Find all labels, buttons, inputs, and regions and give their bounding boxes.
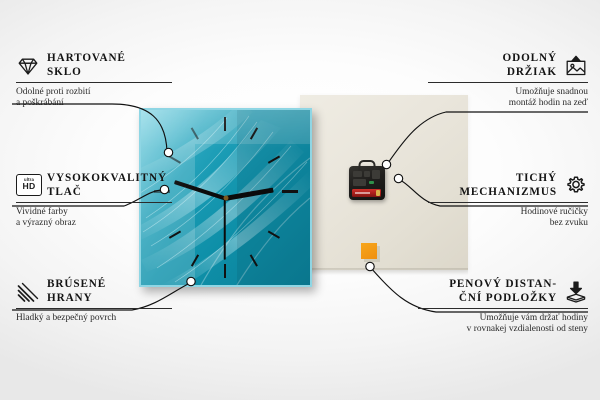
clock-second-hand: [224, 198, 226, 260]
clock-tick: [282, 190, 298, 193]
feature-title: HARTOVANÉ SKLO: [47, 52, 126, 79]
ultra-hd-badge-icon: ultra HD: [16, 174, 40, 198]
mechanism-detail: [353, 171, 362, 177]
diamond-icon: [16, 54, 40, 78]
arrow-into-pad-icon: [564, 280, 588, 304]
feature-description-line2: a poškrábání: [16, 98, 172, 109]
divider: [428, 202, 588, 203]
hd-badge-main-text: HD: [22, 182, 35, 191]
feature-title: VYSOKOKVALITNÝ TLAČ: [47, 172, 167, 199]
mechanism-detail: [372, 170, 380, 179]
feature-heading: ODOLNÝ DRŽIAK: [428, 52, 588, 79]
mechanism-battery: [352, 189, 381, 197]
feature-foam-spacers: PENOVÝ DISTAN- ČNÍ PODLOŽKY Umožňuje vám…: [418, 278, 588, 335]
feature-description-line2: v rovnakej vzdialenosti od steny: [418, 324, 588, 335]
feature-description-line2: a výrazný obraz: [16, 218, 172, 229]
feature-heading: HARTOVANÉ SKLO: [16, 52, 172, 79]
feature-description-line1: Umožňuje snadnou: [428, 87, 588, 98]
diagonal-lines-icon: [16, 280, 40, 304]
feature-description-line1: Hodinové ručičky: [428, 207, 588, 218]
divider: [418, 308, 588, 309]
feature-title: BRÚSENÉ HRANY: [47, 278, 106, 305]
feature-title: TICHÝ MECHANIZMUS: [459, 172, 557, 199]
feature-tempered-glass: HARTOVANÉ SKLO Odolné proti rozbití a po…: [16, 52, 172, 109]
clock-mechanism: [349, 166, 385, 200]
divider: [428, 82, 588, 83]
wall-panel-shadow: [300, 268, 468, 275]
feature-title: ODOLNÝ DRŽIAK: [502, 52, 557, 79]
gear-icon: [564, 174, 588, 198]
feature-description-line1: Odolné proti rozbití: [16, 87, 172, 98]
feature-high-quality-print: ultra HD VYSOKOKVALITNÝ TLAČ Vividné far…: [16, 172, 172, 229]
feature-heading: PENOVÝ DISTAN- ČNÍ PODLOŽKY: [418, 278, 588, 305]
clock-tick: [224, 117, 226, 131]
divider: [16, 202, 172, 203]
feature-heading: TICHÝ MECHANIZMUS: [428, 172, 588, 199]
feature-heading: BRÚSENÉ HRANY: [16, 278, 172, 305]
battery-positive-cap: [376, 190, 380, 196]
feature-description-line1: Umožňuje vám držať hodiny: [418, 313, 588, 324]
infographic-canvas: HARTOVANÉ SKLO Odolné proti rozbití a po…: [0, 0, 600, 400]
feature-silent-mechanism: TICHÝ MECHANIZMUS Hodinové ručičky bez z…: [428, 172, 588, 229]
feature-heading: ultra HD VYSOKOKVALITNÝ TLAČ: [16, 172, 172, 199]
feature-description-line1: Vividné farby: [16, 207, 172, 218]
feature-polished-edges: BRÚSENÉ HRANY Hladký a bezpečný povrch: [16, 278, 172, 324]
clock-hands-hub: [223, 195, 228, 200]
picture-hanger-icon: [564, 54, 588, 78]
mechanism-detail: [369, 181, 374, 184]
clock-tick: [224, 264, 226, 278]
feature-description-line1: Hladký a bezpečný povrch: [16, 313, 172, 324]
feature-description-line2: montáž hodin na zeď: [428, 98, 588, 109]
mechanism-detail: [353, 179, 366, 186]
mechanism-detail: [364, 171, 370, 177]
feature-title: PENOVÝ DISTAN- ČNÍ PODLOŽKY: [449, 278, 557, 305]
foam-spacer-pad: [361, 243, 377, 259]
feature-durable-hanger: ODOLNÝ DRŽIAK Umožňuje snadnou montáž ho…: [428, 52, 588, 109]
divider: [16, 82, 172, 83]
feature-description-line2: bez zvuku: [428, 218, 588, 229]
divider: [16, 308, 172, 309]
battery-label-stripe: [355, 192, 370, 194]
